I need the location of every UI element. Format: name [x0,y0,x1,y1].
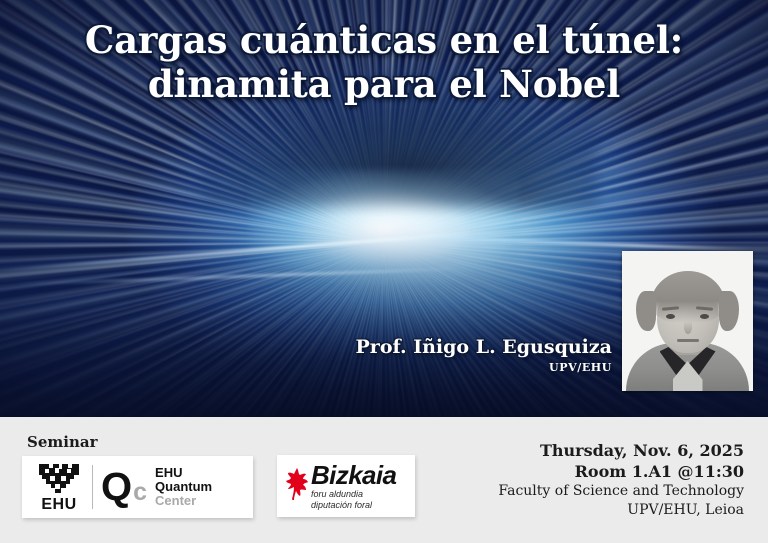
logo-ehu-quantum-center: EHU Q c EHU Quantum Center [22,456,253,518]
logo-bizkaia: Bizkaia foru aldundia diputación foral [277,455,415,517]
seminar-label: Seminar [27,433,97,451]
qc-letter-c: c [133,480,147,505]
event-date: Thursday, Nov. 6, 2025 [444,440,744,461]
portrait-eye-right [700,314,709,319]
bizkaia-name: Bizkaia [311,462,396,488]
portrait-hair-right [719,291,739,331]
speaker-photo-content [622,251,753,391]
bizkaia-sub-spanish: diputación foral [311,500,396,510]
qc-monogram: Q c [93,467,151,507]
bizkaia-wordmark: Bizkaia foru aldundia diputación foral [311,462,396,510]
ehu-emblem-icon [37,462,81,495]
speaker-block: Prof. Iñigo L. Egusquiza UPV/EHU [300,336,612,374]
portrait-eye-left [666,314,675,319]
seminar-poster: Cargas cuánticas en el túnel: dinamita p… [0,0,768,543]
bizkaia-sub-basque: foru aldundia [311,489,396,499]
event-room-time: Room 1.A1 @11:30 [444,461,744,482]
qc-wordmark-line3: Center [155,494,212,508]
portrait-mouth [677,339,699,342]
ehu-crest-word: EHU [41,497,76,513]
qc-wordmark-line1: EHU [155,466,212,480]
portrait-nose [684,321,692,334]
qc-wordmark: EHU Quantum Center [155,466,212,508]
bizkaia-oak-leaf-icon [284,468,310,504]
qc-letter-q: Q [101,467,132,507]
event-details: Thursday, Nov. 6, 2025 Room 1.A1 @11:30 … [444,440,744,520]
ehu-crest: EHU [22,456,92,518]
event-faculty: Faculty of Science and Technology [444,482,744,501]
portrait-hair [651,271,725,323]
qc-wordmark-line2: Quantum [155,480,212,494]
poster-title: Cargas cuánticas en el túnel: dinamita p… [0,18,768,106]
speaker-affiliation: UPV/EHU [300,361,612,374]
event-campus: UPV/EHU, Leioa [444,501,744,520]
portrait-hair-left [636,291,656,331]
speaker-name: Prof. Iñigo L. Egusquiza [300,336,612,359]
speaker-photo [622,251,753,391]
